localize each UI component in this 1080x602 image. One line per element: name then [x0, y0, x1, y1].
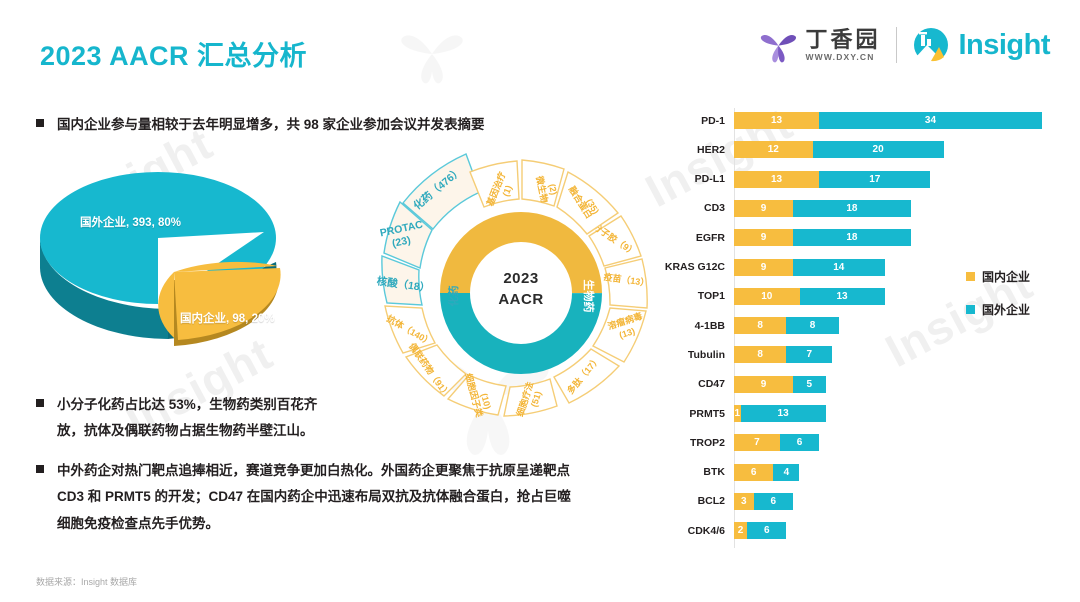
bar-category-label: TROP2	[648, 437, 734, 449]
bar-track: 1317	[734, 171, 930, 188]
bar-segment-foreign: 34	[819, 112, 1042, 129]
bar-row: BTK64	[648, 464, 799, 481]
pie-slice-domestic-wedge	[174, 268, 281, 340]
bar-segment-domestic: 7	[734, 434, 780, 451]
bar-track: 76	[734, 434, 819, 451]
dxy-text-block: 丁香园 WWW.DXY.CN	[805, 28, 880, 61]
bar-track: 1334	[734, 112, 1042, 129]
bar-category-label: EGFR	[648, 232, 734, 244]
bar-category-label: 4-1BB	[648, 320, 734, 332]
bar-category-label: HER2	[648, 144, 734, 156]
bar-segment-foreign: 6	[780, 434, 819, 451]
bar-segment-foreign: 18	[793, 229, 911, 246]
bar-track: 26	[734, 522, 786, 539]
legend-swatch-foreign	[966, 305, 975, 314]
bar-row: PRMT5113	[648, 405, 826, 422]
dxy-name: 丁香园	[805, 28, 880, 51]
legend-label-foreign: 国外企业	[982, 301, 1030, 318]
bar-segment-domestic: 2	[734, 522, 747, 539]
bar-segment-domestic: 8	[734, 346, 786, 363]
bar-segment-foreign: 13	[800, 288, 885, 305]
butterfly-icon	[759, 26, 799, 64]
bar-row: BCL236	[648, 493, 793, 510]
bar-row: KRAS G12C914	[648, 259, 885, 276]
bar-row: Tubulin87	[648, 346, 832, 363]
bar-row: 4-1BB88	[648, 317, 839, 334]
bar-track: 88	[734, 317, 839, 334]
bar-segment-domestic: 3	[734, 493, 754, 510]
bar-segment-foreign: 14	[793, 259, 885, 276]
bar-category-label: BCL2	[648, 495, 734, 507]
bar-track: 1013	[734, 288, 885, 305]
bar-segment-domestic: 8	[734, 317, 786, 334]
pie-label-domestic: 国内企业, 98, 20%	[180, 310, 275, 326]
bar-category-label: CDK4/6	[648, 525, 734, 537]
page-header: 2023 AACR 汇总分析 丁香园 WWW.DXY.CN	[0, 0, 1080, 92]
bullet-item-3: 中外药企对热门靶点追捧相近，赛道竞争更加白热化。外国药企更聚焦于抗原呈递靶点 C…	[36, 458, 656, 537]
bar-segment-foreign: 5	[793, 376, 826, 393]
source-note: 数据来源：Insight 数据库	[36, 575, 137, 588]
bar-row: HER21220	[648, 141, 944, 158]
bar-category-label: Tubulin	[648, 349, 734, 361]
bar-row: CD4795	[648, 376, 826, 393]
bar-track: 918	[734, 200, 911, 217]
bar-segment-foreign: 20	[813, 141, 944, 158]
bar-row: EGFR918	[648, 229, 911, 246]
bullet-text-1: 国内企业参与量相较于去年明显增多，共 98 家企业参加会议并发表摘要	[57, 112, 485, 138]
bullet-item-1: 国内企业参与量相较于去年明显增多，共 98 家企业参加会议并发表摘要	[36, 112, 636, 138]
bullet-item-2: 小分子化药占比达 53%，生物药类别百花齐 放，抗体及偶联药物占据生物药半壁江山…	[36, 392, 366, 445]
legend-item-foreign[interactable]: 国外企业	[966, 301, 1030, 318]
bar-category-label: BTK	[648, 466, 734, 478]
bar-segment-foreign: 6	[754, 493, 793, 510]
bar-segment-foreign: 6	[747, 522, 786, 539]
bar-chart-targets: PD-11334HER21220PD-L11317CD3918EGFR918KR…	[648, 108, 1068, 553]
insight-logo: Insight	[913, 27, 1050, 63]
sunburst-center-year: 2023	[356, 270, 686, 287]
logo-group: 丁香园 WWW.DXY.CN Insight	[759, 26, 1050, 64]
pie-chart-svg	[28, 158, 346, 378]
bullet-square-icon	[36, 399, 44, 407]
sunburst-chart-drug-types: .outer-seg-chem { fill:#fdf5ea; stroke:#…	[356, 128, 686, 458]
bar-category-label: TOP1	[648, 290, 734, 302]
bar-segment-domestic: 13	[734, 112, 819, 129]
bar-segment-domestic: 10	[734, 288, 800, 305]
insight-mark-icon	[913, 27, 949, 63]
page-title: 2023 AACR 汇总分析	[40, 34, 307, 73]
bar-track: 113	[734, 405, 826, 422]
bar-segment-domestic: 12	[734, 141, 813, 158]
bar-category-label: PRMT5	[648, 408, 734, 420]
bar-segment-foreign: 17	[819, 171, 930, 188]
dxy-url: WWW.DXY.CN	[805, 52, 874, 62]
bullet-text-3: 中外药企对热门靶点追捧相近，赛道竞争更加白热化。外国药企更聚焦于抗原呈递靶点 C…	[57, 458, 571, 537]
bar-segment-foreign: 18	[793, 200, 911, 217]
dxy-logo: 丁香园 WWW.DXY.CN	[759, 26, 880, 64]
bar-category-label: CD47	[648, 378, 734, 390]
bar-category-label: CD3	[648, 202, 734, 214]
bar-chart-legend: 国内企业 国外企业	[966, 268, 1030, 334]
bar-track: 36	[734, 493, 793, 510]
bar-segment-foreign: 7	[786, 346, 832, 363]
bar-row: PD-L11317	[648, 171, 930, 188]
bar-segment-domestic: 13	[734, 171, 819, 188]
bar-row: CDK4/626	[648, 522, 786, 539]
bar-row: TROP276	[648, 434, 819, 451]
bullet-text-2: 小分子化药占比达 53%，生物药类别百花齐 放，抗体及偶联药物占据生物药半壁江山…	[57, 392, 317, 445]
bar-row: PD-11334	[648, 112, 1042, 129]
sunburst-center-event: AACR	[356, 291, 686, 308]
bar-segment-domestic: 9	[734, 200, 793, 217]
bar-segment-foreign: 13	[741, 405, 826, 422]
bar-track: 95	[734, 376, 826, 393]
pie-chart-enterprise-share: 国外企业, 393, 80% 国内企业, 98, 20%	[28, 158, 346, 378]
bar-segment-domestic: 9	[734, 229, 793, 246]
bar-category-label: PD-L1	[648, 173, 734, 185]
bar-category-label: PD-1	[648, 115, 734, 127]
bar-row: CD3918	[648, 200, 911, 217]
bullet-square-icon	[36, 465, 44, 473]
bar-segment-foreign: 8	[786, 317, 838, 334]
bar-track: 918	[734, 229, 911, 246]
insight-name: Insight	[958, 29, 1050, 62]
bar-track: 1220	[734, 141, 944, 158]
bar-track: 64	[734, 464, 799, 481]
bar-track: 914	[734, 259, 885, 276]
bar-segment-foreign: 4	[773, 464, 799, 481]
logo-divider	[896, 27, 897, 63]
pie-label-foreign: 国外企业, 393, 80%	[80, 214, 181, 230]
bullet-square-icon	[36, 119, 44, 127]
bar-row: TOP11013	[648, 288, 885, 305]
bar-segment-domestic: 6	[734, 464, 773, 481]
bar-segment-domestic: 9	[734, 376, 793, 393]
legend-item-domestic[interactable]: 国内企业	[966, 268, 1030, 285]
bar-track: 87	[734, 346, 832, 363]
legend-swatch-domestic	[966, 272, 975, 281]
bar-category-label: KRAS G12C	[648, 261, 734, 273]
bar-segment-domestic: 9	[734, 259, 793, 276]
legend-label-domestic: 国内企业	[982, 268, 1030, 285]
